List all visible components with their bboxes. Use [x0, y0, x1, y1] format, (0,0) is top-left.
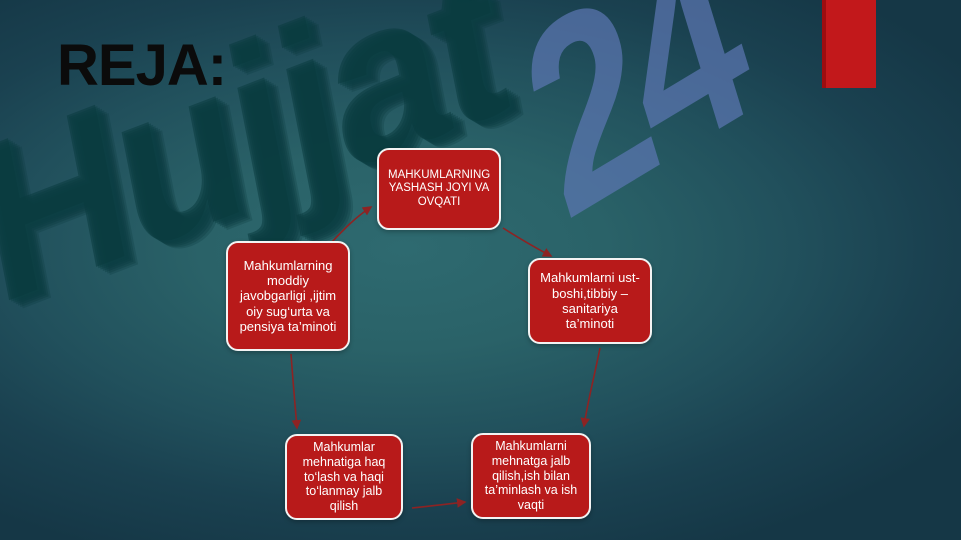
page-title: REJA: — [57, 36, 226, 97]
diagram-box-left[interactable]: Mahkumlarning moddiy javobgarligi ,ijtim… — [226, 241, 350, 351]
diagram-box-bottom-right[interactable]: Mahkumlarni mehnatga jalb qilish,ish bil… — [471, 433, 591, 519]
background-watermark-24: 24 — [500, 0, 764, 260]
diagram-box-right-label: Mahkumlarni ust-boshi,tibbiy – sanitariy… — [539, 270, 641, 331]
arrow-top-to-right — [503, 228, 551, 256]
diagram-box-bottom-right-label: Mahkumlarni mehnatga jalb qilish,ish bil… — [482, 439, 580, 513]
accent-bar — [822, 0, 876, 88]
presentation-slide: Hujjat 24 REJA: MAHKUMLARNING YASHASH JO… — [0, 0, 961, 540]
diagram-box-bottom-left-label: Mahkumlar mehnatiga haq to‘lash va haqi … — [296, 440, 392, 514]
arrow-right-to-bottom-right — [584, 348, 600, 426]
diagram-box-bottom-left[interactable]: Mahkumlar mehnatiga haq to‘lash va haqi … — [285, 434, 403, 520]
arrow-bottom-left-to-bottom-right — [412, 502, 465, 508]
arrow-left-to-top — [331, 207, 371, 243]
diagram-box-right[interactable]: Mahkumlarni ust-boshi,tibbiy – sanitariy… — [528, 258, 652, 344]
diagram-box-left-label: Mahkumlarning moddiy javobgarligi ,ijtim… — [237, 258, 339, 335]
diagram-box-top[interactable]: MAHKUMLARNING YASHASH JOYI VA OVQATI — [377, 148, 501, 230]
diagram-box-top-label: MAHKUMLARNING YASHASH JOYI VA OVQATI — [388, 169, 490, 210]
arrow-left-to-bottom-left — [291, 354, 297, 428]
